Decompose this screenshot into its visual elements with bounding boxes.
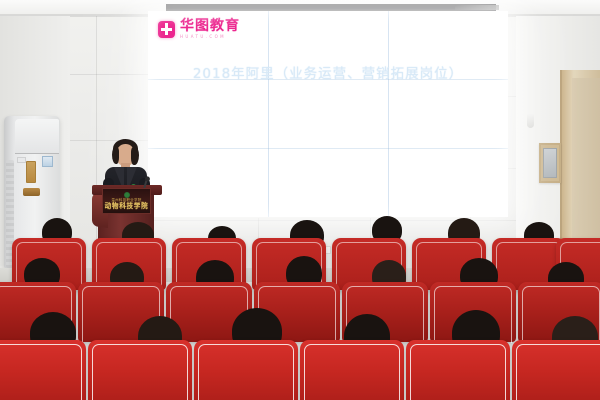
panel-seam [388, 11, 389, 217]
university-crest-icon [124, 192, 130, 198]
wall-light [527, 113, 534, 128]
auditorium-seat[interactable] [300, 340, 404, 400]
led-video-wall: 华图教育 HUATU.COM 2018年阿里（业务运营、营销拓展岗位） [148, 11, 508, 217]
auditorium-photo: 华图教育 HUATU.COM 2018年阿里（业务运营、营销拓展岗位） [0, 0, 600, 400]
logo-en-text: HUATU.COM [180, 35, 240, 39]
presenter-hair-right [131, 147, 139, 165]
slide-title: 2018年阿里（业务运营、营销拓展岗位） [148, 62, 508, 82]
presentation-logo: 华图教育 HUATU.COM [158, 19, 240, 39]
auditorium-seat[interactable] [194, 340, 298, 400]
ac-energy-label [42, 156, 53, 167]
auditorium-seat[interactable] [88, 340, 192, 400]
screen-rail-end [455, 5, 499, 10]
panel-seam [148, 148, 508, 149]
huatu-logo-icon [158, 21, 175, 38]
ac-brand-badge [23, 188, 40, 196]
podium-plaque: 温州科技职业学院 动物科技学院 [102, 188, 151, 214]
panel-seam [268, 11, 269, 217]
logo-cn-text: 华图教育 [180, 19, 240, 33]
ac-display-panel[interactable] [26, 161, 36, 183]
ac-top-vent [15, 119, 59, 153]
ac-label [17, 157, 26, 163]
plaque-college-name: 动物科技学院 [105, 202, 149, 210]
auditorium-seat[interactable] [0, 340, 86, 400]
presenter-hair-left [112, 147, 119, 164]
hatch-glass [543, 148, 557, 178]
audience-seating [0, 236, 600, 400]
ac-seam [15, 153, 59, 154]
screen-rail [166, 4, 496, 11]
auditorium-seat[interactable] [406, 340, 510, 400]
auditorium-seat[interactable] [512, 340, 600, 400]
